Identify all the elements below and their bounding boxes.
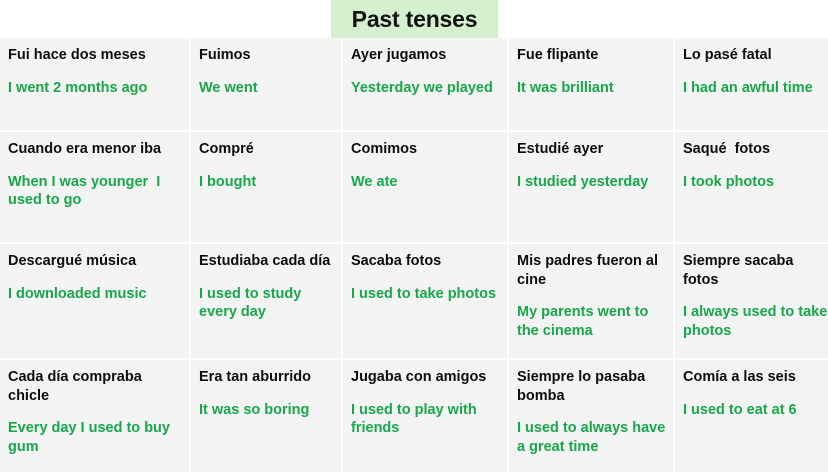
vocab-cell[interactable]: Comimos We ate — [343, 132, 507, 242]
spanish-phrase: Fui hace dos meses — [8, 46, 183, 65]
spanish-phrase: Jugaba con amigos — [351, 368, 501, 387]
vocabulary-grid: Fui hace dos meses I went 2 months ago F… — [0, 38, 828, 466]
spanish-phrase: Fuimos — [199, 46, 335, 65]
vocab-cell[interactable]: Saqué fotos I took photos — [675, 132, 828, 242]
vocab-cell[interactable]: Compré I bought — [191, 132, 341, 242]
vocab-cell[interactable]: Lo pasé fatal I had an awful time — [675, 38, 828, 130]
spanish-phrase: Comía a las seis — [683, 368, 828, 387]
english-translation: Every day I used to buy gum — [8, 419, 183, 456]
vocab-cell[interactable]: Cuando era menor iba When I was younger … — [0, 132, 189, 242]
vocab-cell[interactable]: Comía a las seis I used to eat at 6 — [675, 360, 828, 472]
spanish-phrase: Estudiaba cada día — [199, 252, 335, 271]
spanish-phrase: Ayer jugamos — [351, 46, 501, 65]
english-translation: I always used to take photos — [683, 303, 828, 340]
vocab-cell[interactable]: Estudié ayer I studied yesterday — [509, 132, 673, 242]
vocab-cell[interactable]: Jugaba con amigos I used to play with fr… — [343, 360, 507, 472]
english-translation: Yesterday we played — [351, 79, 501, 98]
spanish-phrase: Comimos — [351, 140, 501, 159]
spanish-phrase: Siempre sacaba fotos — [683, 252, 828, 289]
spanish-phrase: Cuando era menor iba — [8, 140, 183, 159]
vocab-cell[interactable]: Descargué música I downloaded music — [0, 244, 189, 358]
english-translation: I used to play with friends — [351, 401, 501, 438]
spanish-phrase: Descargué música — [8, 252, 183, 271]
english-translation: We ate — [351, 173, 501, 192]
spanish-phrase: Lo pasé fatal — [683, 46, 828, 65]
english-translation: It was brilliant — [517, 79, 667, 98]
english-translation: I used to eat at 6 — [683, 401, 828, 420]
spanish-phrase: Saqué fotos — [683, 140, 828, 159]
spanish-phrase: Era tan aburrido — [199, 368, 335, 387]
english-translation: I went 2 months ago — [8, 79, 183, 98]
spanish-phrase: Mis padres fueron al cine — [517, 252, 667, 289]
english-translation: I downloaded music — [8, 285, 183, 304]
english-translation: I used to study every day — [199, 285, 335, 322]
vocab-cell[interactable]: Mis padres fueron al cine My parents wen… — [509, 244, 673, 358]
vocab-cell[interactable]: Siempre lo pasaba bomba I used to always… — [509, 360, 673, 472]
page-title: Past tenses — [352, 8, 478, 31]
spanish-phrase: Fue flipante — [517, 46, 667, 65]
vocab-cell[interactable]: Fuimos We went — [191, 38, 341, 130]
slide-canvas: Past tenses Fui hace dos meses I went 2 … — [0, 0, 828, 466]
spanish-phrase: Siempre lo pasaba bomba — [517, 368, 667, 405]
vocab-cell[interactable]: Fui hace dos meses I went 2 months ago — [0, 38, 189, 130]
english-translation: I bought — [199, 173, 335, 192]
english-translation: I used to always have a great time — [517, 419, 667, 456]
vocab-cell[interactable]: Sacaba fotos I used to take photos — [343, 244, 507, 358]
vocab-cell[interactable]: Siempre sacaba fotos I always used to ta… — [675, 244, 828, 358]
spanish-phrase: Cada día compraba chicle — [8, 368, 183, 405]
english-translation: My parents went to the cinema — [517, 303, 667, 340]
english-translation: I studied yesterday — [517, 173, 667, 192]
english-translation: I used to take photos — [351, 285, 501, 304]
english-translation: I took photos — [683, 173, 828, 192]
english-translation: It was so boring — [199, 401, 335, 420]
vocab-cell[interactable]: Cada día compraba chicle Every day I use… — [0, 360, 189, 472]
spanish-phrase: Estudié ayer — [517, 140, 667, 159]
spanish-phrase: Compré — [199, 140, 335, 159]
vocab-cell[interactable]: Era tan aburrido It was so boring — [191, 360, 341, 472]
vocab-cell[interactable]: Fue flipante It was brilliant — [509, 38, 673, 130]
vocab-cell[interactable]: Ayer jugamos Yesterday we played — [343, 38, 507, 130]
english-translation: When I was younger I used to go — [8, 173, 183, 210]
vocab-cell[interactable]: Estudiaba cada día I used to study every… — [191, 244, 341, 358]
english-translation: I had an awful time — [683, 79, 828, 98]
title-banner: Past tenses — [331, 0, 498, 38]
spanish-phrase: Sacaba fotos — [351, 252, 501, 271]
english-translation: We went — [199, 79, 335, 98]
